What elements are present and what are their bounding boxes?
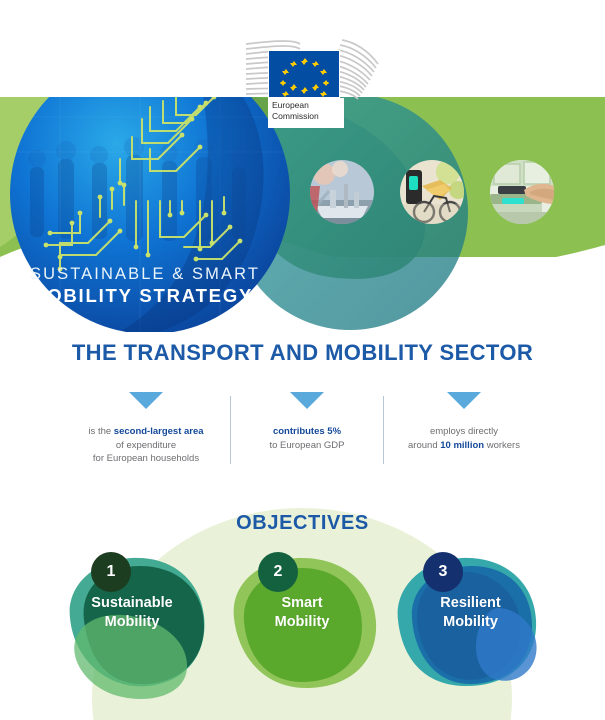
objectives-section: OBJECTIVES Sustainable Mobility Smart Mo… xyxy=(0,468,605,720)
photo-smartphone-charging xyxy=(490,160,554,224)
eu-commission-logo: European Commission xyxy=(228,30,380,102)
eu-commission-header: European Commission xyxy=(0,0,605,100)
eu-flag-emblem xyxy=(268,50,340,98)
objective-label-1-line-1: Sustainable xyxy=(62,594,202,613)
stat-prefix: is the xyxy=(88,426,113,437)
objective-number-badge-1: 1 xyxy=(91,552,131,592)
stat-line-2-after: workers xyxy=(484,440,520,451)
stat-text-gdp: contributes 5% to European GDP xyxy=(237,425,377,452)
sector-title: THE TRANSPORT AND MOBILITY SECTOR xyxy=(0,340,605,366)
stat-item-employment: employs directly around 10 million worke… xyxy=(384,392,544,452)
stat-line-2: of expenditure xyxy=(116,440,176,451)
stat-text-employment: employs directly around 10 million worke… xyxy=(390,425,538,452)
stat-item-gdp: contributes 5% to European GDP xyxy=(231,392,383,452)
triangle-marker-icon xyxy=(129,392,163,409)
stat-highlight: contributes 5% xyxy=(273,426,341,437)
eu-caption-line-1: European xyxy=(272,100,341,111)
stat-line-2-before: around xyxy=(408,440,440,451)
objective-number-badge-3: 3 xyxy=(423,552,463,592)
objective-label-1-line-2: Mobility xyxy=(62,613,202,632)
stat-item-expenditure: is the second-largest area of expenditur… xyxy=(62,392,230,466)
stat-text-expenditure: is the second-largest area of expenditur… xyxy=(68,425,224,466)
stat-highlight: 10 million xyxy=(440,440,484,451)
stat-highlight: second-largest area xyxy=(114,426,204,437)
photo-ebike-charging xyxy=(400,160,464,224)
photo-ship-port xyxy=(310,160,374,224)
triangle-marker-icon xyxy=(290,392,324,409)
objective-label-2: Smart Mobility xyxy=(232,594,372,632)
objective-label-3-line-1: Resilient xyxy=(398,594,543,613)
objective-label-3-line-2: Mobility xyxy=(398,613,543,632)
stat-prefix: employs directly xyxy=(430,426,498,437)
stat-line-2: to European GDP xyxy=(270,440,345,451)
objective-number-badge-2: 2 xyxy=(258,552,298,592)
objective-label-2-line-1: Smart xyxy=(232,594,372,613)
objective-label-3: Resilient Mobility xyxy=(398,594,543,632)
objective-label-1: Sustainable Mobility xyxy=(62,594,202,632)
objective-label-2-line-2: Mobility xyxy=(232,613,372,632)
stat-line-3: for European households xyxy=(93,453,199,464)
triangle-marker-icon xyxy=(447,392,481,409)
transport-sector-section: THE TRANSPORT AND MOBILITY SECTOR is the… xyxy=(0,340,605,366)
objectives-title: OBJECTIVES xyxy=(0,512,605,535)
sector-stats: is the second-largest area of expenditur… xyxy=(62,392,542,466)
eu-commission-caption: European Commission xyxy=(268,98,344,128)
eu-caption-line-2: Commission xyxy=(272,111,341,122)
infographic-page: European Commission xyxy=(0,0,605,720)
